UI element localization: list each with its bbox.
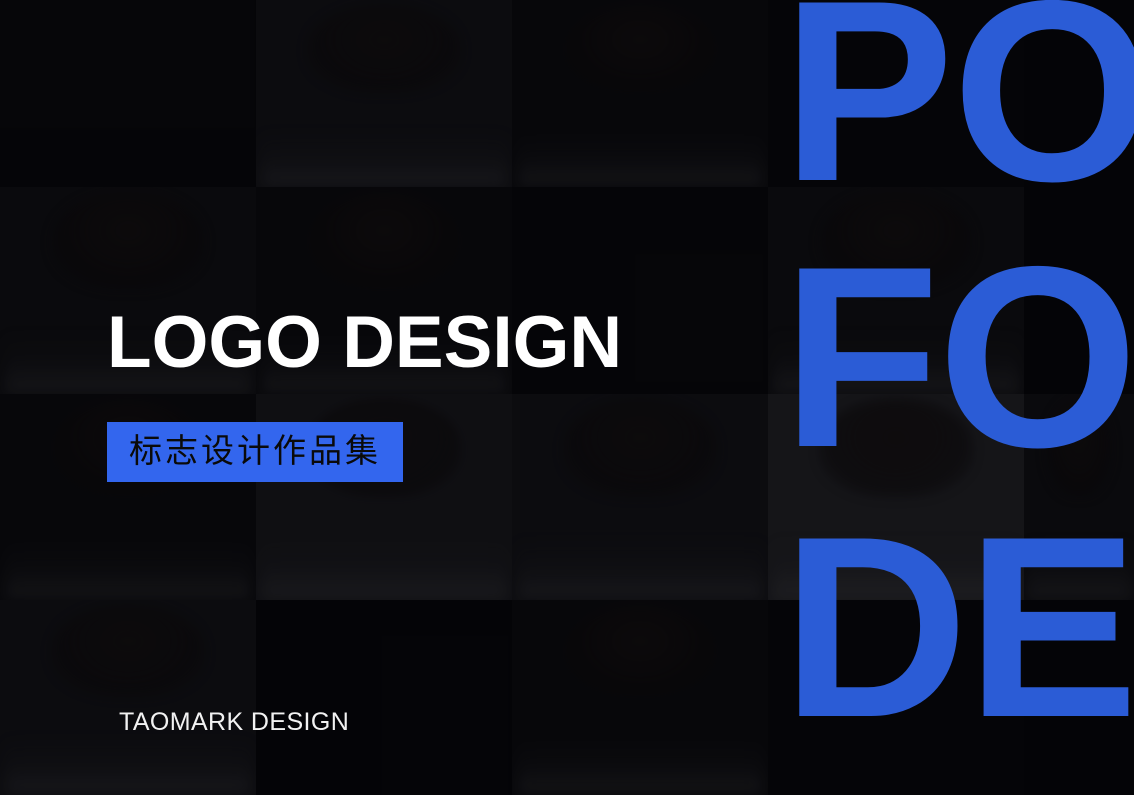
- photo-cell-r4c4: [768, 600, 1024, 795]
- photo-cell-r4c2: [256, 600, 512, 795]
- photo-cell-r1c5: [1024, 0, 1134, 187]
- subtitle-badge: 标志设计作品集: [107, 422, 403, 482]
- photo-cell-r3c4: [768, 394, 1024, 600]
- photo-cell-r1c2: [256, 0, 512, 187]
- photo-cell-r3c5: [1024, 394, 1134, 600]
- photo-cell-r1c1: [0, 0, 256, 187]
- photo-cell-r4c5: [1024, 600, 1134, 795]
- photo-cell-r4c1: [0, 600, 256, 795]
- photo-cell-r4c3: [512, 600, 768, 795]
- photo-cell-r2c4: [768, 187, 1024, 394]
- brand-label: TAOMARK DESIGN: [119, 708, 349, 737]
- photo-cell-r2c5: [1024, 187, 1134, 394]
- headline-block: LOGO DESIGN 标志设计作品集: [107, 306, 622, 482]
- page-title: LOGO DESIGN: [107, 306, 622, 380]
- portfolio-cover: PO FO DE LOGO DESIGN 标志设计作品集 TAOMARK DES…: [0, 0, 1134, 795]
- photo-cell-r1c3: [512, 0, 768, 187]
- photo-cell-r1c4: [768, 0, 1024, 187]
